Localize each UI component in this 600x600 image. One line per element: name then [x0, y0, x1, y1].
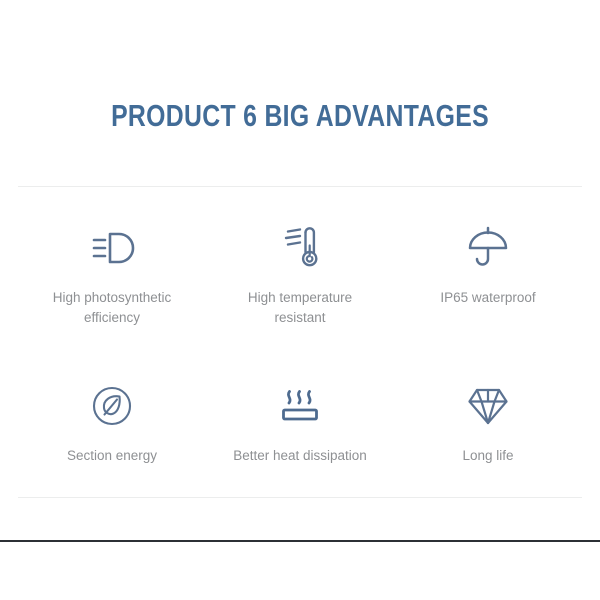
- feature-item-high-photosynthetic-efficiency[interactable]: High photosynthetic efficiency: [18, 222, 206, 328]
- feature-item-better-heat-dissipation[interactable]: Better heat dissipation: [206, 380, 394, 466]
- thermometer-heat-icon: [272, 222, 328, 274]
- feature-label: High temperature resistant: [225, 288, 375, 328]
- feature-label: IP65 waterproof: [440, 288, 535, 308]
- feature-item-section-energy[interactable]: Section energy: [18, 380, 206, 466]
- feature-item-long-life[interactable]: Long life: [394, 380, 582, 466]
- divider-top: [18, 186, 582, 187]
- heat-dissipation-icon: [272, 380, 328, 432]
- diamond-icon: [460, 380, 516, 432]
- bottom-rule: [0, 540, 600, 542]
- feature-label: Better heat dissipation: [233, 446, 367, 466]
- page-title-container: PRODUCT 6 BIG ADVANTAGES: [0, 98, 600, 134]
- leaf-in-circle-icon: [84, 380, 140, 432]
- feature-grid: High photosynthetic efficiency High temp…: [18, 222, 582, 466]
- umbrella-icon: [460, 222, 516, 274]
- feature-label: Long life: [462, 446, 513, 466]
- divider-bottom: [18, 497, 582, 498]
- feature-item-ip65-waterproof[interactable]: IP65 waterproof: [394, 222, 582, 328]
- feature-label: High photosynthetic efficiency: [37, 288, 187, 328]
- feature-label: Section energy: [67, 446, 157, 466]
- product-advantages-page: PRODUCT 6 BIG ADVANTAGES High photosynth…: [0, 0, 600, 600]
- headlight-beam-icon: [84, 222, 140, 274]
- page-title: PRODUCT 6 BIG ADVANTAGES: [60, 98, 540, 134]
- feature-item-high-temperature-resistant[interactable]: High temperature resistant: [206, 222, 394, 328]
